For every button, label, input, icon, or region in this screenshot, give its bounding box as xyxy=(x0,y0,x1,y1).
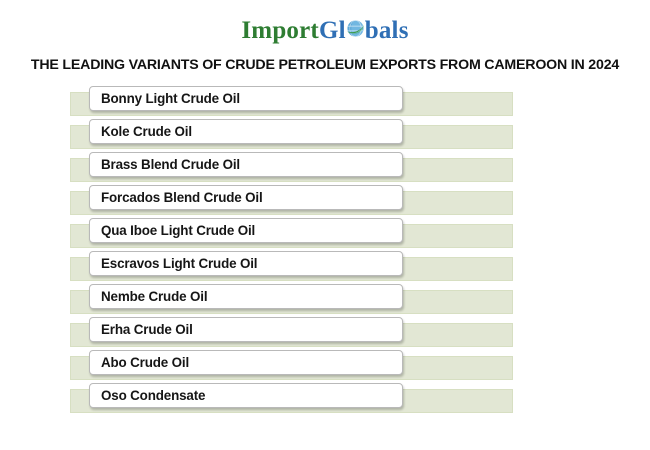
bar-label-chip: Abo Crude Oil xyxy=(89,350,403,375)
bar-label-text: Oso Condensate xyxy=(101,388,205,403)
bar-label-chip: Forcados Blend Crude Oil xyxy=(89,185,403,210)
logo-text-globals-prefix: Gl xyxy=(319,17,346,44)
bar-label-chip: Escravos Light Crude Oil xyxy=(89,251,403,276)
bar-row: Qua Iboe Light Crude Oil xyxy=(0,218,650,251)
chart-title: THE LEADING VARIANTS OF CRUDE PETROLEUM … xyxy=(0,57,650,73)
bar-row: Abo Crude Oil xyxy=(0,350,650,383)
bar-row: Nembe Crude Oil xyxy=(0,284,650,317)
bar-label-chip: Bonny Light Crude Oil xyxy=(89,86,403,111)
bar-label-chip: Brass Blend Crude Oil xyxy=(89,152,403,177)
bar-label-text: Forcados Blend Crude Oil xyxy=(101,190,263,205)
bar-label-chip: Oso Condensate xyxy=(89,383,403,408)
logo-text-import: Import xyxy=(241,17,319,44)
bar-label-text: Brass Blend Crude Oil xyxy=(101,157,240,172)
bar-row: Forcados Blend Crude Oil xyxy=(0,185,650,218)
bar-row: Brass Blend Crude Oil xyxy=(0,152,650,185)
bar-row: Erha Crude Oil xyxy=(0,317,650,350)
bar-label-text: Qua Iboe Light Crude Oil xyxy=(101,223,255,238)
bar-label-text: Abo Crude Oil xyxy=(101,355,189,370)
bar-label-text: Kole Crude Oil xyxy=(101,124,192,139)
bar-chart-plot-area: Bonny Light Crude OilKole Crude OilBrass… xyxy=(0,86,650,426)
bar-row: Bonny Light Crude Oil xyxy=(0,86,650,119)
bar-label-chip: Nembe Crude Oil xyxy=(89,284,403,309)
bar-label-text: Escravos Light Crude Oil xyxy=(101,256,257,271)
bar-label-text: Nembe Crude Oil xyxy=(101,289,207,304)
brand-logo: ImportGl bals xyxy=(0,18,650,43)
bar-label-chip: Kole Crude Oil xyxy=(89,119,403,144)
bar-label-chip: Erha Crude Oil xyxy=(89,317,403,342)
bar-label-chip: Qua Iboe Light Crude Oil xyxy=(89,218,403,243)
globe-icon xyxy=(346,19,365,38)
bar-row: Oso Condensate xyxy=(0,383,650,416)
bar-row: Escravos Light Crude Oil xyxy=(0,251,650,284)
bar-row: Kole Crude Oil xyxy=(0,119,650,152)
bar-label-text: Erha Crude Oil xyxy=(101,322,193,337)
bar-label-text: Bonny Light Crude Oil xyxy=(101,91,240,106)
logo-text-globals-suffix: bals xyxy=(365,17,409,44)
